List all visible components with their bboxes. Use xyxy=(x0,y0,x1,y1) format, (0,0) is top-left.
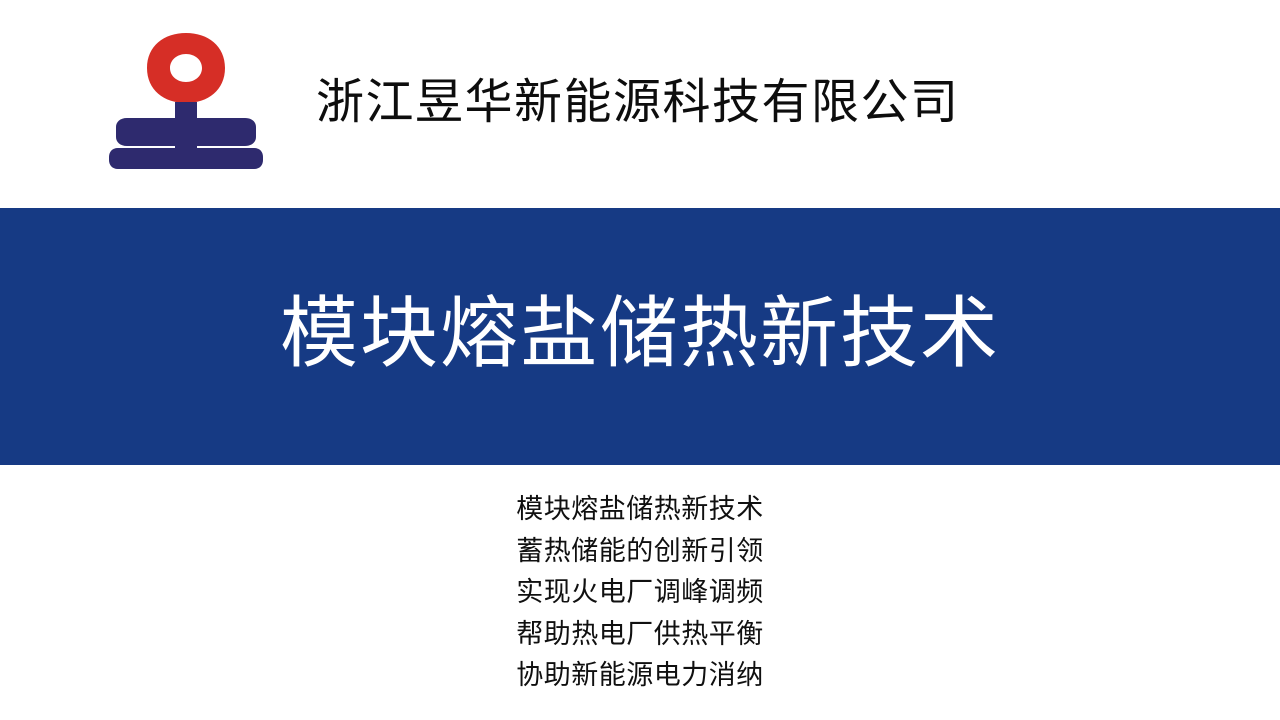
tagline-line: 实现火电厂调峰调频 xyxy=(516,572,764,614)
logo-bottom-bar xyxy=(109,148,263,169)
title-banner: 模块熔盐储热新技术 xyxy=(0,208,1280,465)
logo-red-ring xyxy=(147,33,225,103)
presentation-slide: 浙江昱华新能源科技有限公司 模块熔盐储热新技术 模块熔盐储热新技术 蓄热储能的创… xyxy=(0,0,1280,720)
slide-header: 浙江昱华新能源科技有限公司 xyxy=(0,0,1280,208)
tagline-line: 帮助热电厂供热平衡 xyxy=(516,614,764,656)
company-logo-icon xyxy=(108,28,264,174)
tagline-list: 模块熔盐储热新技术 蓄热储能的创新引领 实现火电厂调峰调频 帮助热电厂供热平衡 … xyxy=(0,489,1280,697)
slide-title: 模块熔盐储热新技术 xyxy=(0,208,1280,465)
tagline-line: 模块熔盐储热新技术 xyxy=(516,489,764,531)
company-name: 浙江昱华新能源科技有限公司 xyxy=(316,74,960,132)
tagline-line: 协助新能源电力消纳 xyxy=(516,655,764,697)
tagline-line: 蓄热储能的创新引领 xyxy=(516,531,764,573)
